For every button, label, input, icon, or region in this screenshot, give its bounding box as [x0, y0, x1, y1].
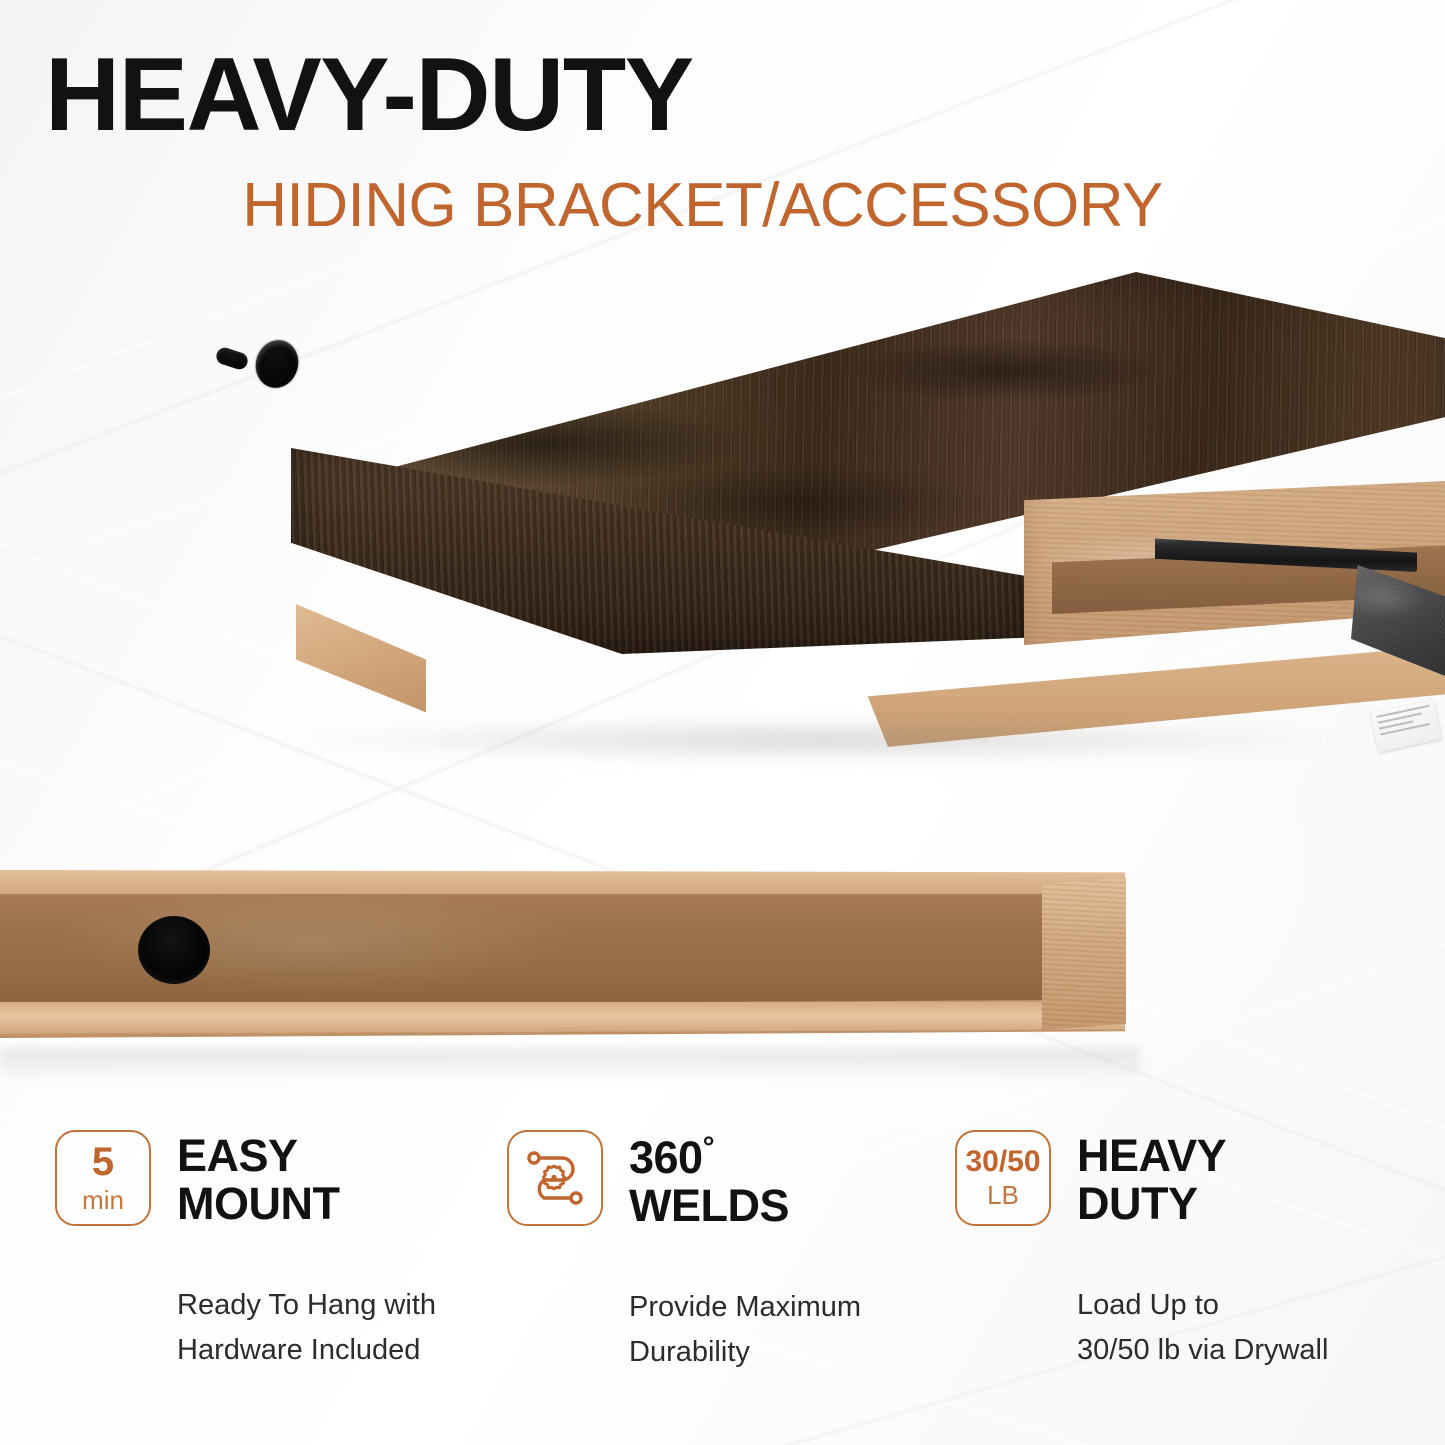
feature-description: Load Up to 30/50 lb via Drywall [955, 1283, 1379, 1373]
feature-description: Provide Maximum Durability [507, 1285, 927, 1375]
feature-desc-line1: Load Up to [1077, 1283, 1379, 1328]
feature-title: HEAVY DUTY [1077, 1130, 1226, 1227]
degree-symbol: ° [703, 1131, 715, 1164]
feature-title-line2: WELDS [629, 1182, 789, 1230]
weld-path-gear-icon [507, 1130, 603, 1226]
feature-title-line1: EASY [177, 1132, 339, 1180]
channel-bottom-lip [0, 1002, 1125, 1034]
feature-title: 360° WELDS [629, 1130, 789, 1229]
feature-easy-mount: 5 min EASY MOUNT Ready To Hang with Hard… [55, 1130, 497, 1375]
bracket-rod [1155, 528, 1417, 572]
feature-title-line2: MOUNT [177, 1180, 339, 1228]
channel-mounting-hole [138, 916, 210, 984]
feature-heading: 30/50 LB HEAVY DUTY [955, 1130, 1379, 1227]
feature-desc-line1: Ready To Hang with [177, 1283, 475, 1328]
feature-description: Ready To Hang with Hardware Included [55, 1283, 475, 1373]
badge-value: 30/50 [965, 1147, 1040, 1177]
weight-badge-icon: 30/50 LB [955, 1130, 1051, 1226]
hero-drop-shadow [300, 717, 1350, 763]
bracket-oval-slot [214, 345, 250, 371]
feature-title-line1: HEAVY [1077, 1132, 1226, 1180]
feature-desc-line2: Hardware Included [177, 1328, 475, 1373]
feature-title-line2: DUTY [1077, 1180, 1226, 1228]
page-subtitle: HIDING BRACKET/ACCESSORY [0, 170, 1445, 241]
feature-desc-line2: Durability [629, 1330, 927, 1375]
hero-product-photo [0, 262, 1445, 782]
channel-end-cap [1042, 878, 1126, 1030]
header: HEAVY-DUTY HIDING BRACKET/ACCESSORY [0, 0, 1445, 241]
shelf-channel-photo [0, 862, 1135, 1062]
feature-360-welds: 360° WELDS Provide Maximum Durability [497, 1130, 949, 1375]
feature-title-line1: 360° [629, 1132, 789, 1182]
channel-top-lip [0, 870, 1125, 894]
badge-unit: LB [987, 1181, 1019, 1210]
feature-desc-line1: Provide Maximum [629, 1285, 927, 1330]
feature-heading: 5 min EASY MOUNT [55, 1130, 479, 1227]
feature-list: 5 min EASY MOUNT Ready To Hang with Hard… [0, 1130, 1445, 1375]
bracket-mounting-plate [1351, 565, 1445, 677]
feature-heavy-duty: 30/50 LB HEAVY DUTY Load Up to 30/50 lb … [949, 1130, 1397, 1375]
badge-unit: min [82, 1186, 124, 1215]
feature-desc-line2: 30/50 lb via Drywall [1077, 1328, 1379, 1373]
shelf-mdf-cut-corner [296, 604, 426, 730]
feature-title: EASY MOUNT [177, 1130, 339, 1227]
feature-heading: 360° WELDS [507, 1130, 931, 1229]
page-title: HEAVY-DUTY [0, 42, 1445, 148]
badge-value: 5 [92, 1142, 114, 1182]
hidden-bracket [1155, 512, 1445, 692]
timer-badge-icon: 5 min [55, 1130, 151, 1226]
